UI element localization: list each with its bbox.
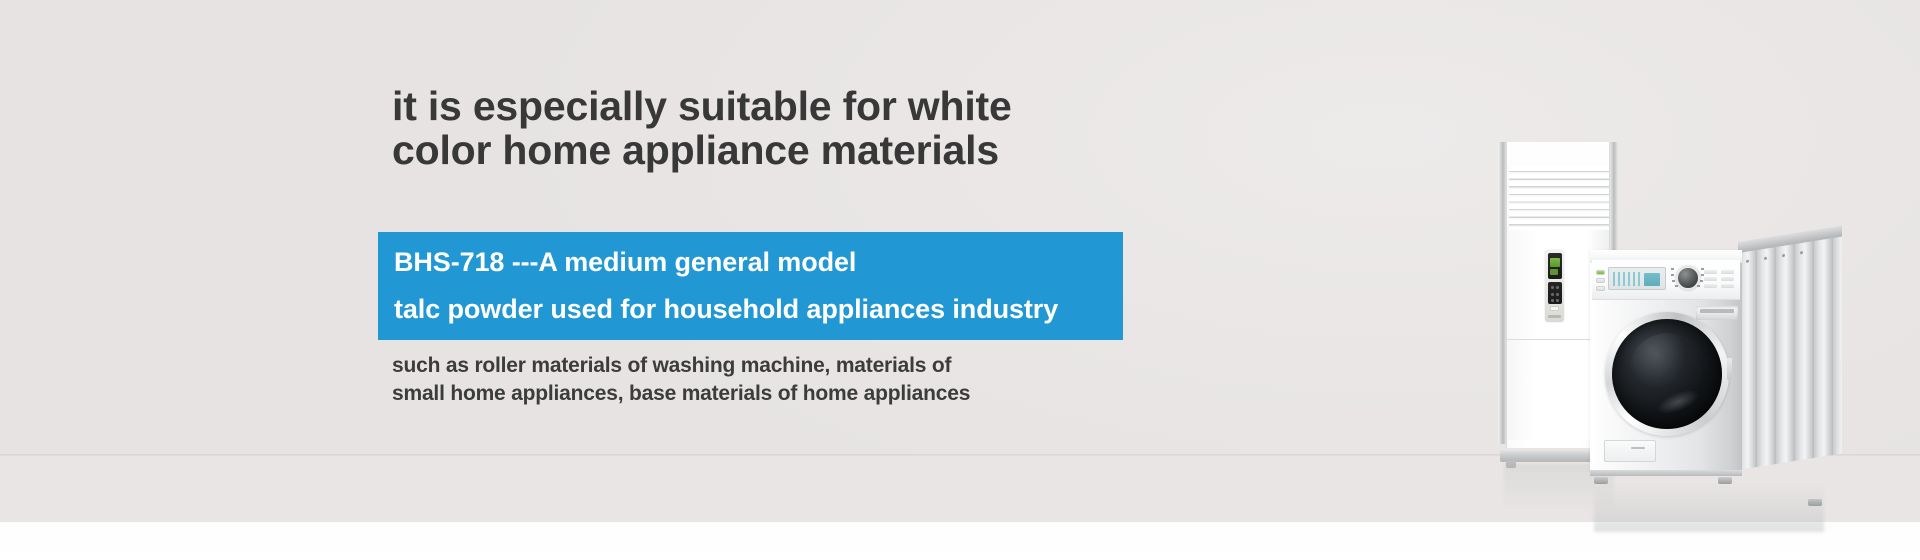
wm-filter-access-panel xyxy=(1604,440,1656,462)
wm-front-body xyxy=(1590,250,1742,472)
wm-detergent-drawer xyxy=(1696,306,1738,320)
ac-display-screen xyxy=(1548,253,1562,279)
banner-description: such as roller materials of washing mach… xyxy=(392,352,1152,409)
ac-button-cluster xyxy=(1548,282,1562,304)
wm-foot-right xyxy=(1718,477,1732,484)
wm-side-panel xyxy=(1738,236,1842,470)
wm-door-glass xyxy=(1612,319,1722,429)
wm-door-ring xyxy=(1605,312,1729,436)
wm-door-latch xyxy=(1727,358,1732,380)
banner-text-column: it is especially suitable for white colo… xyxy=(392,0,1152,560)
highlight-line-2: talc powder used for household appliance… xyxy=(394,296,1123,323)
product-photo-group xyxy=(1480,130,1900,560)
product-banner: it is especially suitable for white colo… xyxy=(0,0,1920,560)
highlight-line-1: BHS-718 ---A medium general model xyxy=(394,249,1123,276)
ac-louver-vents xyxy=(1509,166,1609,230)
ac-small-vent xyxy=(1550,306,1559,311)
description-line-1: such as roller materials of washing mach… xyxy=(392,352,1152,380)
ac-display-digits xyxy=(1550,258,1560,267)
ac-brand-logo xyxy=(1548,315,1561,318)
description-line-2: small home appliances, base materials of… xyxy=(392,380,1152,408)
wm-floor-reflection xyxy=(1594,484,1824,532)
ac-top-panel xyxy=(1507,142,1609,166)
front-load-washing-machine xyxy=(1590,250,1842,474)
headline-line-2: color home appliance materials xyxy=(392,128,1152,172)
wm-kick-plate xyxy=(1590,470,1742,476)
wm-control-panel xyxy=(1592,260,1740,300)
wm-foot-left xyxy=(1594,477,1608,484)
wm-lcd-display xyxy=(1608,267,1666,290)
wm-lcd-time-readout xyxy=(1644,273,1660,286)
ac-control-panel xyxy=(1545,250,1564,322)
wm-left-buttons xyxy=(1596,270,1606,292)
product-highlight-box: BHS-718 ---A medium general model talc p… xyxy=(378,232,1123,340)
wm-right-buttons xyxy=(1704,268,1738,296)
headline-line-1: it is especially suitable for white xyxy=(392,84,1152,128)
ac-display-secondary xyxy=(1550,269,1558,275)
wm-program-dial xyxy=(1676,266,1700,290)
banner-headline: it is especially suitable for white colo… xyxy=(392,84,1152,173)
